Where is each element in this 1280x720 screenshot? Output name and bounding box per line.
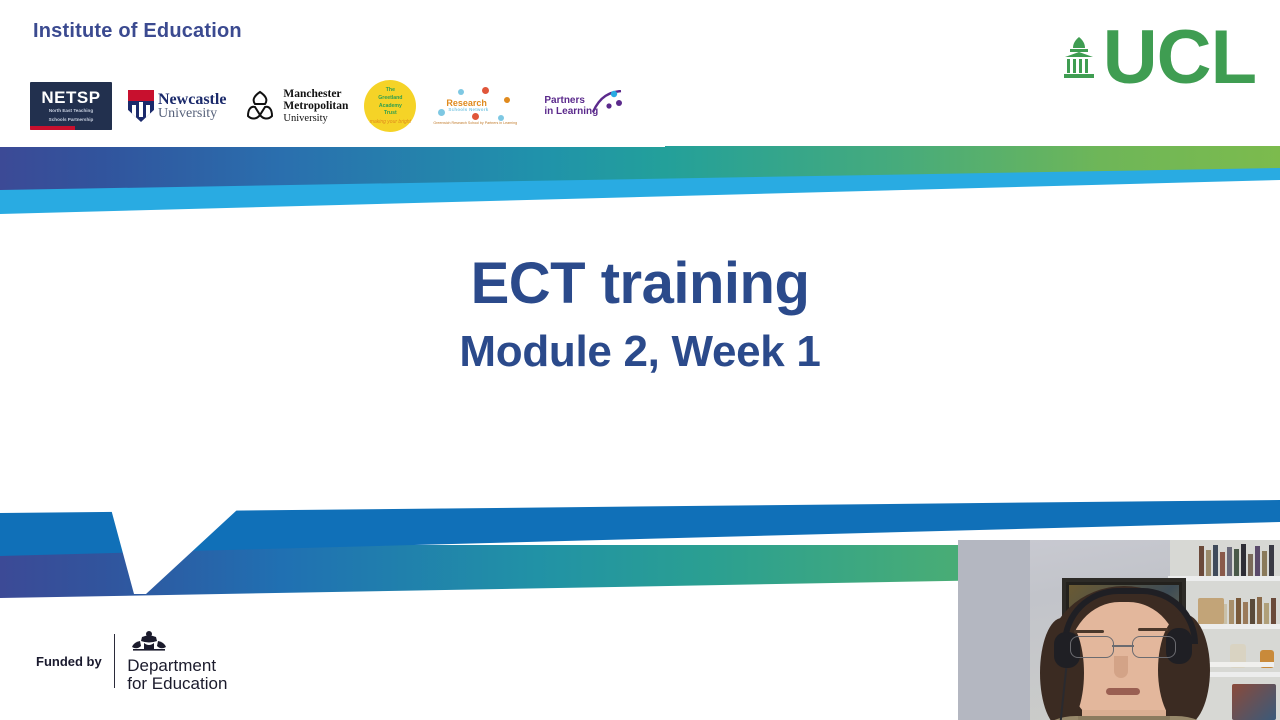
newcastle-line2: University [158, 107, 226, 121]
funding-credit: Funded by Department for Education [36, 630, 227, 692]
pil-line1: Partners [544, 95, 585, 106]
institute-of-education-title: Institute of Education [33, 20, 242, 43]
netsp-line1: North East Teaching [49, 108, 93, 114]
rsn-node-icon [504, 97, 510, 103]
page-title: ECT training [0, 252, 1280, 317]
shirt-collar [1078, 716, 1170, 720]
rsn-node-icon [482, 87, 489, 94]
glasses-icon [1070, 636, 1176, 656]
netsp-accent-bar [30, 126, 112, 130]
mmu-wordmark: Manchester Metropolitan University [283, 88, 348, 124]
royal-coat-of-arms-icon [127, 639, 171, 656]
dfe-line2: for Education [127, 675, 227, 693]
partner-logo-panel: Institute of Education NETSP North East … [0, 0, 665, 147]
greetland-line3: Academy [379, 103, 402, 111]
rsn-node-icon [458, 89, 464, 95]
rsn-node-icon [438, 109, 445, 116]
manchester-metropolitan-university-logo: Manchester Metropolitan University [242, 88, 348, 124]
shelf-box-object [1198, 598, 1224, 624]
pil-swoosh-icon [592, 90, 622, 116]
mmu-trefoil-icon [242, 88, 278, 124]
dfe-line1: Department [127, 657, 227, 675]
newcastle-university-logo: Newcastle University [128, 90, 226, 122]
mmu-line2: Metropolitan [283, 100, 348, 112]
funded-by-label: Funded by [36, 654, 102, 669]
webcam-background-wall-left [958, 540, 1030, 720]
greetland-tagline: making your bright [370, 119, 411, 125]
greetland-academy-trust-logo: The Greetland Academy Trust making your … [364, 80, 416, 132]
eyebrow-right [1138, 628, 1168, 631]
footer-divider [114, 634, 116, 688]
greetland-line2: Greetland [378, 95, 402, 103]
mmu-line1: Manchester [283, 88, 348, 100]
pil-wordmark: Partners in Learning [544, 95, 598, 117]
greetland-line1: The [386, 87, 395, 95]
pil-line2: in Learning [544, 106, 598, 117]
slide-title-block: ECT training Module 2, Week 1 [0, 252, 1280, 377]
partner-logo-row: NETSP North East Teaching Schools Partne… [30, 78, 622, 134]
presentation-slide: Institute of Education NETSP North East … [0, 0, 1280, 720]
mmu-line3: University [283, 113, 348, 124]
mouth [1106, 688, 1140, 695]
netsp-line2: Schools Partnership [49, 117, 94, 123]
rsn-subtitle: Schools Network [448, 107, 488, 112]
ucl-wordmark: UCL [1103, 28, 1256, 87]
greetland-line4: Trust [384, 110, 397, 118]
book-group [1222, 596, 1276, 624]
partners-in-learning-logo: Partners in Learning [544, 88, 622, 124]
netsp-acronym: NETSP [41, 89, 100, 106]
netsp-logo: NETSP North East Teaching Schools Partne… [30, 82, 112, 130]
page-subtitle: Module 2, Week 1 [0, 327, 1280, 377]
research-schools-network-logo: Research Schools Network Greenwich Resea… [432, 83, 528, 129]
eyebrow-left [1074, 630, 1104, 633]
newcastle-shield-icon [128, 90, 154, 122]
rsn-node-icon [472, 113, 479, 120]
ucl-portico-building-icon [1059, 35, 1099, 87]
book-group [1199, 544, 1274, 576]
nose [1114, 656, 1128, 678]
newcastle-wordmark: Newcastle University [158, 92, 226, 121]
webcam-video-overlay[interactable] [958, 540, 1280, 720]
shelf-colour-object [1232, 684, 1276, 720]
ucl-logo: UCL [1059, 28, 1256, 87]
department-for-education-logo: Department for Education [127, 630, 227, 692]
rsn-caption: Greenwich Research School by Partners in… [433, 121, 517, 125]
